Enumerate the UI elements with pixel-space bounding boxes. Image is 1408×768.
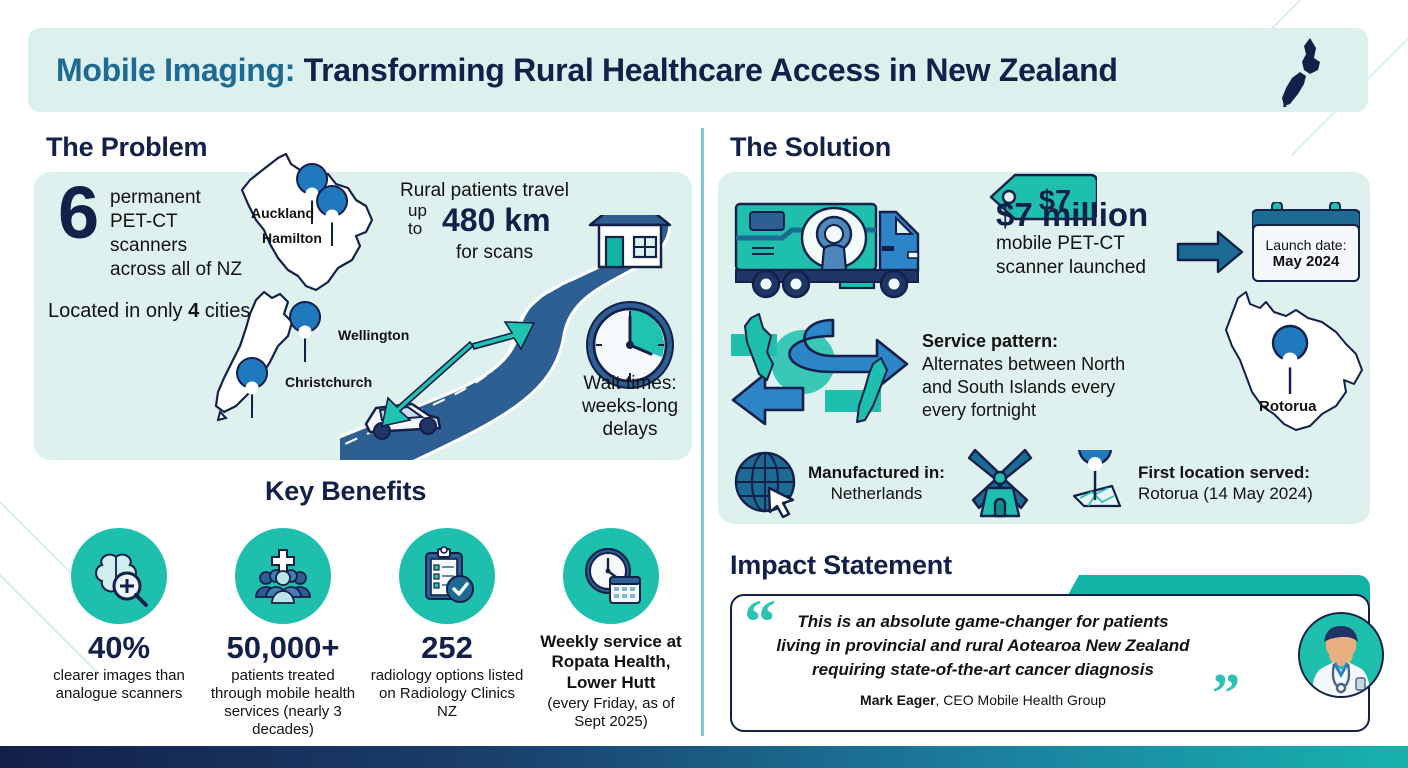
scanner-label-line-2: PET-CT: [110, 210, 242, 234]
impact-heading: Impact Statement: [730, 550, 952, 581]
benefit-item-patients-treated: 50,000+ patients treated through mobile …: [204, 528, 362, 740]
page-title-lead: Mobile Imaging:: [56, 52, 295, 88]
quote-line-3: requiring state-of-the-art cancer diagno…: [768, 658, 1198, 682]
benefit-item-weekly-service: Weekly service at Ropata Health, Lower H…: [532, 528, 690, 740]
fact-manufactured-in: Manufactured in: Netherlands: [808, 462, 945, 505]
wait-line-2: weeks-long: [575, 395, 685, 418]
benefit-value-2: 252: [421, 632, 473, 665]
benefit-value-3: Weekly service at Ropata Health, Lower H…: [532, 632, 690, 693]
rotorua-map-label: Rotorua: [1259, 398, 1317, 415]
service-line-1: Alternates between North: [922, 353, 1125, 376]
problem-heading: The Problem: [46, 132, 207, 163]
benefit-desc-0: clearer images than analogue scanners: [40, 667, 198, 704]
service-pattern-title: Service pattern:: [922, 331, 1058, 351]
quote-author-name: Mark Eager: [860, 692, 935, 708]
clipboard-check-icon: [399, 528, 495, 624]
page-title-rest: Transforming Rural Healthcare Access in …: [295, 52, 1118, 88]
service-pattern-text: Service pattern: Alternates between Nort…: [922, 330, 1125, 421]
fact-first-location-title: First location served:: [1138, 463, 1310, 482]
travel-upto: up to: [408, 202, 427, 238]
fact-first-location: First location served: Rotorua (14 May 2…: [1138, 462, 1313, 505]
quote-close-icon: ”: [1212, 666, 1240, 722]
quote-author-role: , CEO Mobile Health Group: [936, 692, 1106, 708]
benefit-desc-2: radiology options listed on Radiology Cl…: [368, 667, 526, 722]
benefit-value-1: 50,000+: [227, 632, 340, 665]
service-line-3: every fortnight: [922, 399, 1125, 422]
scanner-count-label: permanent PET-CT scanners across all of …: [110, 186, 242, 283]
benefit-desc-1: patients treated through mobile health s…: [204, 667, 362, 740]
launch-date-label: Launch date:: [1266, 237, 1347, 253]
quote-text: This is an absolute game-changer for pat…: [768, 610, 1198, 682]
bottom-accent-bar: [0, 746, 1408, 768]
scanner-label-line-4: across all of NZ: [110, 258, 242, 282]
patients-group-icon: [235, 528, 331, 624]
travel-distance-value: 480 km: [442, 202, 551, 239]
travel-to: to: [408, 220, 427, 238]
travel-distance-block: Rural patients travel up to 480 km for s…: [400, 180, 620, 202]
new-zealand-silhouette-icon: [1276, 36, 1334, 108]
key-benefits-heading: Key Benefits: [265, 476, 426, 507]
launch-date-card: Launch date: May 2024: [1252, 224, 1360, 282]
infographic-page: Mobile Imaging: Transforming Rural Healt…: [0, 0, 1408, 768]
quote-line-2: living in provincial and rural Aotearoa …: [768, 634, 1198, 658]
money-sub-line-1: mobile PET-CT: [996, 232, 1146, 256]
header-banner: Mobile Imaging: Transforming Rural Healt…: [28, 28, 1368, 112]
service-line-2: and South Islands every: [922, 376, 1125, 399]
scanner-count-value: 6: [58, 178, 99, 248]
money-subtext: mobile PET-CT scanner launched: [996, 232, 1146, 279]
page-title: Mobile Imaging: Transforming Rural Healt…: [56, 52, 1118, 89]
launch-date-value: May 2024: [1273, 253, 1340, 270]
benefit-item-radiology-options: 252 radiology options listed on Radiolog…: [368, 528, 526, 740]
wait-line-3: delays: [575, 418, 685, 441]
travel-line-1: Rural patients travel: [400, 180, 620, 202]
located-suffix: cities: [199, 300, 250, 322]
benefit-item-clearer-images: 40% clearer images than analogue scanner…: [40, 528, 198, 740]
key-benefits-row: 40% clearer images than analogue scanner…: [40, 528, 690, 740]
money-sub-line-2: scanner launched: [996, 256, 1146, 280]
money-headline: $7 million: [996, 196, 1148, 234]
benefit-desc-3: (every Friday, as of Sept 2025): [532, 695, 690, 732]
travel-up: up: [408, 202, 427, 220]
clock-calendar-icon: [563, 528, 659, 624]
fact-manufactured-value: Netherlands: [808, 483, 945, 504]
fact-first-location-value: Rotorua (14 May 2024): [1138, 483, 1313, 504]
quote-line-1: This is an absolute game-changer for pat…: [768, 610, 1198, 634]
panel-divider: [701, 128, 704, 736]
brain-magnifier-icon: [71, 528, 167, 624]
located-prefix: Located in only: [48, 300, 188, 322]
located-cities-line: Located in only 4 cities: [48, 300, 250, 323]
scanner-label-line-3: scanners: [110, 234, 242, 258]
travel-line-3: for scans: [456, 242, 533, 264]
fact-manufactured-title: Manufactured in:: [808, 463, 945, 482]
quote-attribution: Mark Eager, CEO Mobile Health Group: [768, 692, 1198, 708]
wait-times-text: Wait times: weeks-long delays: [575, 372, 685, 442]
wait-line-1: Wait times:: [575, 372, 685, 395]
solution-heading: The Solution: [730, 132, 891, 163]
doctor-avatar-icon: [1298, 612, 1384, 698]
scanner-label-line-1: permanent: [110, 186, 242, 210]
benefit-value-0: 40%: [88, 632, 150, 665]
located-value: 4: [188, 300, 199, 322]
